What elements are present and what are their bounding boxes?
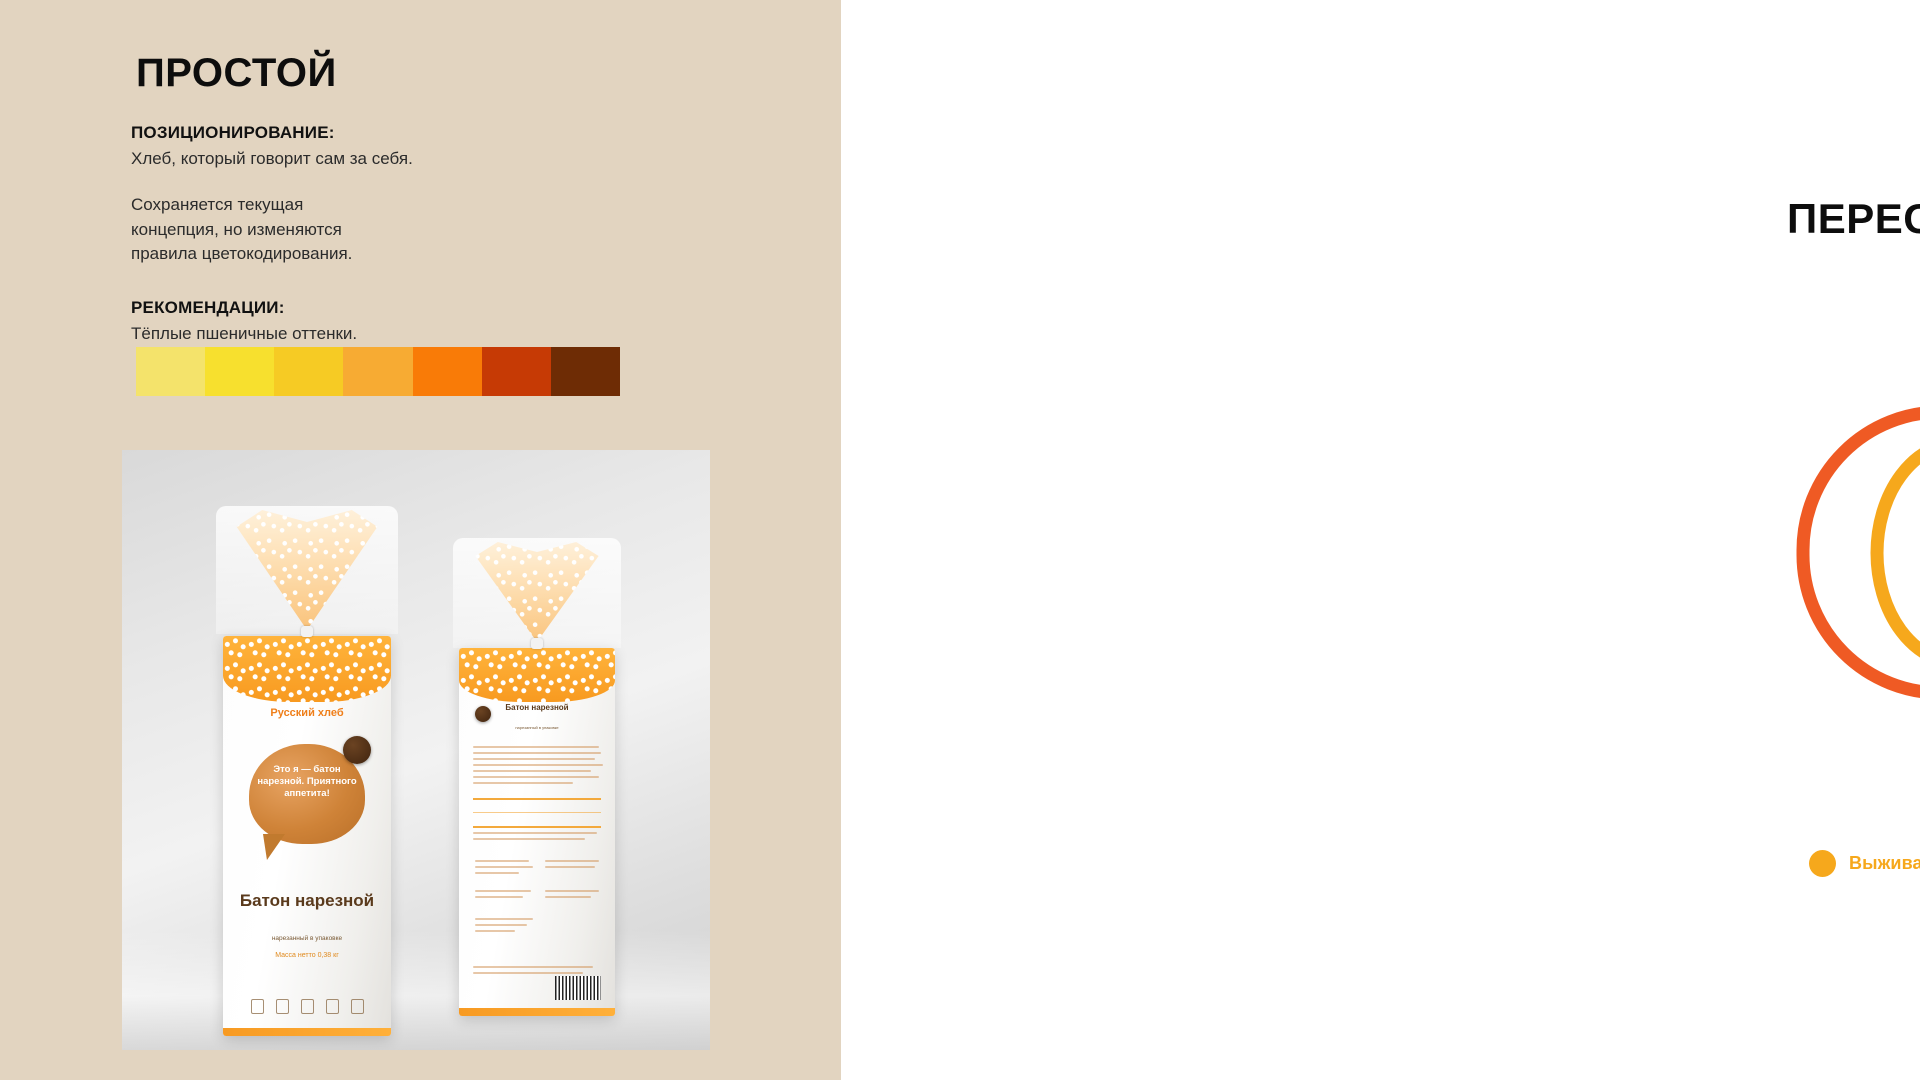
pkg-icon-2 — [276, 999, 289, 1014]
package-icons-front — [223, 999, 391, 1014]
palette-swatch-3 — [274, 347, 343, 396]
brand-logo-front: Русский хлеб — [270, 708, 343, 720]
brand-logo-text: Русский хлеб — [270, 707, 343, 719]
product-mass-front: Масса нетто 0,38 кг — [223, 952, 391, 960]
right-panel: ПЕРЕСЕЧЕНИЕ АУДИТОРИЙ Батон нарезной — [841, 0, 1920, 1080]
product-name-back: Батон нарезной — [459, 704, 615, 713]
group-outline-mama — [1803, 412, 1920, 693]
palette-swatch-5 — [413, 347, 482, 396]
bag-bottom-strip-front — [223, 1028, 391, 1036]
positioning-label: ПОЗИЦИОНИРОВАНИЕ: — [131, 122, 413, 143]
palette-swatch-6 — [482, 347, 551, 396]
product-sub-back: нарезанный в упаковке — [459, 726, 615, 731]
photo-floor-reflection — [122, 930, 710, 1050]
positioning-section: ПОЗИЦИОНИРОВАНИЕ: Хлеб, который говорит … — [131, 122, 413, 266]
pkg-icon-1 — [251, 999, 264, 1014]
legend-label: Выживающий — [1849, 853, 1920, 874]
page-title: ПРОСТОЙ — [136, 53, 337, 93]
bread-seal-icon — [343, 736, 371, 764]
audience-legend: ВыживающийМама для семьиПараМолодые люди… — [1809, 850, 1920, 877]
color-palette — [136, 347, 620, 396]
product-name-front: Батон нарезной — [223, 891, 391, 910]
positioning-text: Хлеб, который говорит сам за себя. — [131, 147, 413, 171]
palette-swatch-1 — [136, 347, 205, 396]
group-outline-survivor — [1877, 443, 1920, 663]
photo-inner: Русский хлеб Это я — батон нарезной. При… — [122, 450, 710, 1050]
audience-overlap-title: ПЕРЕСЕЧЕНИЕ АУДИТОРИЙ — [1787, 198, 1920, 240]
legend-item-1[interactable]: Выживающий — [1809, 850, 1920, 877]
bag-shoulder-front — [223, 636, 391, 702]
bag-film-back — [453, 538, 621, 648]
bag-bottom-strip-back — [459, 1008, 615, 1016]
pkg-icon-5 — [351, 999, 364, 1014]
recommendations-section: РЕКОМЕНДАЦИИ: Тёплые пшеничные оттенки. — [131, 297, 357, 346]
pkg-icon-3 — [301, 999, 314, 1014]
bag-film-front — [216, 506, 398, 634]
product-photo: Русский хлеб Это я — батон нарезной. При… — [122, 450, 710, 1050]
recommendations-text: Тёплые пшеничные оттенки. — [131, 322, 357, 346]
product-sub-front: нарезанный в упаковке — [223, 935, 391, 943]
legend-dot-icon — [1809, 850, 1836, 877]
nutrition-table — [473, 798, 601, 828]
pkg-icon-4 — [326, 999, 339, 1014]
recommendations-label: РЕКОМЕНДАЦИИ: — [131, 297, 357, 318]
palette-swatch-7 — [551, 347, 620, 396]
palette-swatch-4 — [343, 347, 412, 396]
speech-bubble-tail — [263, 834, 285, 860]
bag-clip-front — [301, 626, 313, 637]
bag-shoulder-back — [459, 648, 615, 702]
left-panel: ПРОСТОЙ ПОЗИЦИОНИРОВАНИЕ: Хлеб, который … — [0, 0, 841, 1080]
bubble-text: Это я — батон нарезной. Приятного аппети… — [223, 764, 391, 800]
venn-svg — [1796, 405, 1920, 700]
positioning-note: Сохраняется текущая концепция, но изменя… — [131, 193, 391, 265]
palette-swatch-2 — [205, 347, 274, 396]
bag-body-back: Батон нарезной нарезанный в упаковке — [459, 648, 615, 1016]
barcode — [555, 976, 601, 1000]
bag-clip-back — [531, 638, 543, 649]
audience-overlap-diagram: Батон нарезной — [1796, 405, 1920, 700]
bag-body-front: Русский хлеб Это я — батон нарезной. При… — [223, 636, 391, 1036]
slide: ПРОСТОЙ ПОЗИЦИОНИРОВАНИЕ: Хлеб, который … — [0, 0, 1920, 1080]
